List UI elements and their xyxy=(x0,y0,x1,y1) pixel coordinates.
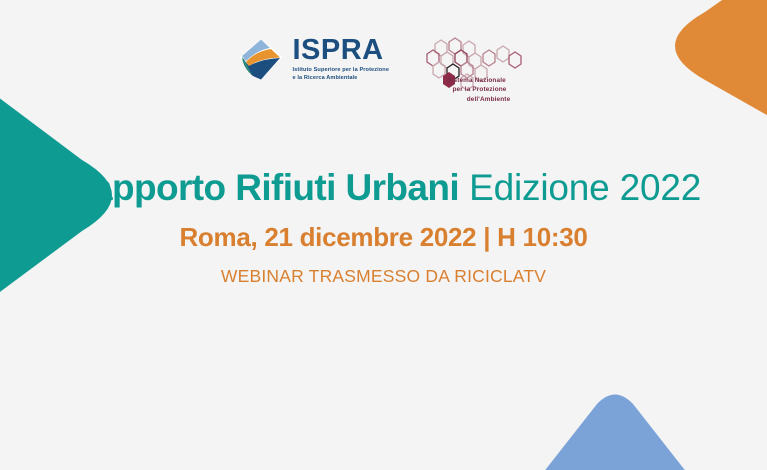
event-title-strong: Rapporto Rifiuti Urbani xyxy=(66,167,459,208)
event-banner: ISPRA Istituto Superiore per la Protezio… xyxy=(0,0,767,470)
blue-dome-shape-bottom-right xyxy=(515,388,715,470)
ispra-diamond-icon xyxy=(237,36,285,82)
logo-row: ISPRA Istituto Superiore per la Protezio… xyxy=(0,36,767,108)
snpa-wordmark: Sistema Nazionale per la Protezione dell… xyxy=(423,76,531,104)
ispra-logo: ISPRA Istituto Superiore per la Protezio… xyxy=(237,36,391,83)
ispra-wordmark-block: ISPRA Istituto Superiore per la Protezio… xyxy=(293,36,391,83)
snpa-text-line3: dell'Ambiente xyxy=(423,95,531,104)
snpa-logo: Sistema Nazionale per la Protezione dell… xyxy=(413,36,531,108)
snpa-text-line2: per la Protezione xyxy=(423,85,531,94)
event-title: Rapporto Rifiuti Urbani Edizione 2022 xyxy=(0,168,767,208)
event-broadcast-note: WEBINAR TRASMESSO DA RICICLATV xyxy=(0,266,767,287)
headline-block: Rapporto Rifiuti Urbani Edizione 2022 Ro… xyxy=(0,168,767,287)
ispra-wordmark: ISPRA xyxy=(293,36,391,65)
ispra-tagline: Istituto Superiore per la Protezione e l… xyxy=(293,66,391,83)
ispra-tagline-line2: e la Ricerca Ambientale xyxy=(293,75,358,81)
snpa-text-line1: Sistema Nazionale xyxy=(423,76,531,85)
event-datetime: Roma, 21 dicembre 2022 | H 10:30 xyxy=(0,222,767,253)
ispra-tagline-line1: Istituto Superiore per la Protezione xyxy=(293,67,390,73)
event-title-light: Edizione 2022 xyxy=(459,167,701,208)
